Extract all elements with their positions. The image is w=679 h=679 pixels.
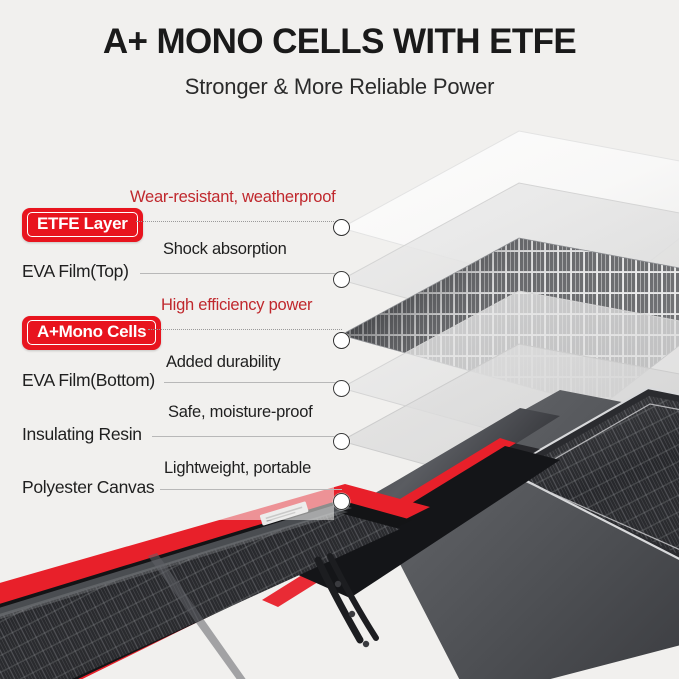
layer-label: ETFE Layer	[27, 212, 138, 237]
layer-label-polyester-canvas: Polyester Canvas	[22, 477, 154, 498]
layer-label-eva-film-bottom: EVA Film(Bottom)	[22, 370, 155, 391]
layer-description: Added durability	[166, 353, 280, 373]
layer-badge-a-plus-mono-cells[interactable]: A+Mono Cells	[22, 316, 161, 350]
leader-line	[152, 436, 342, 437]
layer-description: High efficiency power	[161, 296, 312, 316]
page-subtitle: Stronger & More Reliable Power	[0, 74, 679, 100]
layer-label: A+Mono Cells	[27, 320, 156, 345]
infographic-canvas: A+ MONO CELLS WITH ETFE Stronger & More …	[0, 0, 679, 679]
layer-description: Wear-resistant, weatherproof	[130, 188, 335, 208]
page-title: A+ MONO CELLS WITH ETFE	[0, 24, 679, 59]
connector-dot[interactable]	[333, 380, 350, 397]
connector-dot[interactable]	[333, 433, 350, 450]
leader-line	[164, 382, 342, 383]
leader-line	[148, 329, 342, 330]
connector-dot[interactable]	[333, 493, 350, 510]
header: A+ MONO CELLS WITH ETFE Stronger & More …	[0, 0, 679, 100]
leader-line	[160, 489, 342, 490]
layer-callout-list: ETFE Layer Wear-resistant, weatherproof …	[0, 0, 679, 679]
connector-dot[interactable]	[333, 219, 350, 236]
layer-badge-etfe-layer[interactable]: ETFE Layer	[22, 208, 143, 242]
layer-label-insulating-resin: Insulating Resin	[22, 424, 142, 445]
connector-dot[interactable]	[333, 332, 350, 349]
leader-line	[140, 273, 342, 274]
layer-description: Lightweight, portable	[164, 459, 311, 479]
layer-description: Shock absorption	[163, 240, 287, 260]
layer-label-eva-film-top: EVA Film(Top)	[22, 261, 129, 282]
connector-dot[interactable]	[333, 271, 350, 288]
layer-description: Safe, moisture-proof	[168, 403, 312, 423]
leader-line	[136, 221, 342, 222]
